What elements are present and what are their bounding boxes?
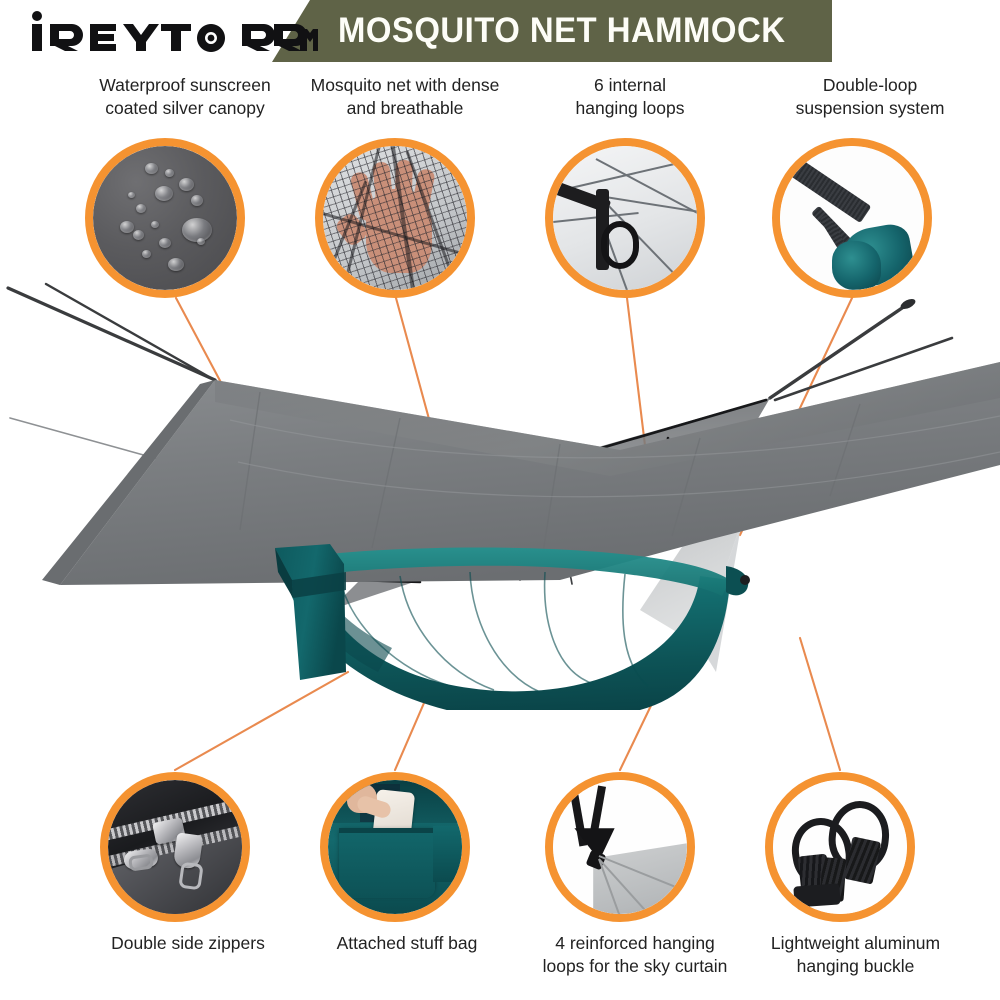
- callout-circle-double-loop-suspension[interactable]: [772, 138, 932, 298]
- suspension-strap-icon: [780, 146, 924, 290]
- callout-label-double-loop-suspension: Double-loop suspension system: [750, 74, 990, 120]
- reinforced-loop-icon: [553, 780, 687, 914]
- callout-circle-waterproof-canopy[interactable]: [85, 138, 245, 298]
- zipper-icon: [108, 780, 242, 914]
- hanging-loop-icon: [553, 146, 697, 290]
- callout-circle-mosquito-net[interactable]: [315, 138, 475, 298]
- water-droplets-icon: [93, 146, 237, 290]
- stuff-bag-icon: [328, 780, 462, 914]
- callout-circle-reinforced-hanging-loops[interactable]: [545, 772, 695, 922]
- mesh-net-hand-icon: [323, 146, 467, 290]
- carabiner-icon: [773, 780, 907, 914]
- callout-label-attached-stuff-bag: Attached stuff bag: [282, 932, 532, 955]
- callout-label-internal-loops: 6 internal hanging loops: [525, 74, 735, 120]
- callout-circle-aluminum-hanging-buckle[interactable]: [765, 772, 915, 922]
- callout-circle-internal-loops[interactable]: [545, 138, 705, 298]
- callout-label-mosquito-net: Mosquito net with dense and breathable: [280, 74, 530, 120]
- callout-circle-double-side-zippers[interactable]: [100, 772, 250, 922]
- callout-label-waterproof-canopy: Waterproof sunscreen coated silver canop…: [55, 74, 315, 120]
- callout-circle-attached-stuff-bag[interactable]: [320, 772, 470, 922]
- callout-label-aluminum-hanging-buckle: Lightweight aluminum hanging buckle: [723, 932, 988, 978]
- product-illustration: [0, 280, 1000, 710]
- callout-label-double-side-zippers: Double side zippers: [58, 932, 318, 955]
